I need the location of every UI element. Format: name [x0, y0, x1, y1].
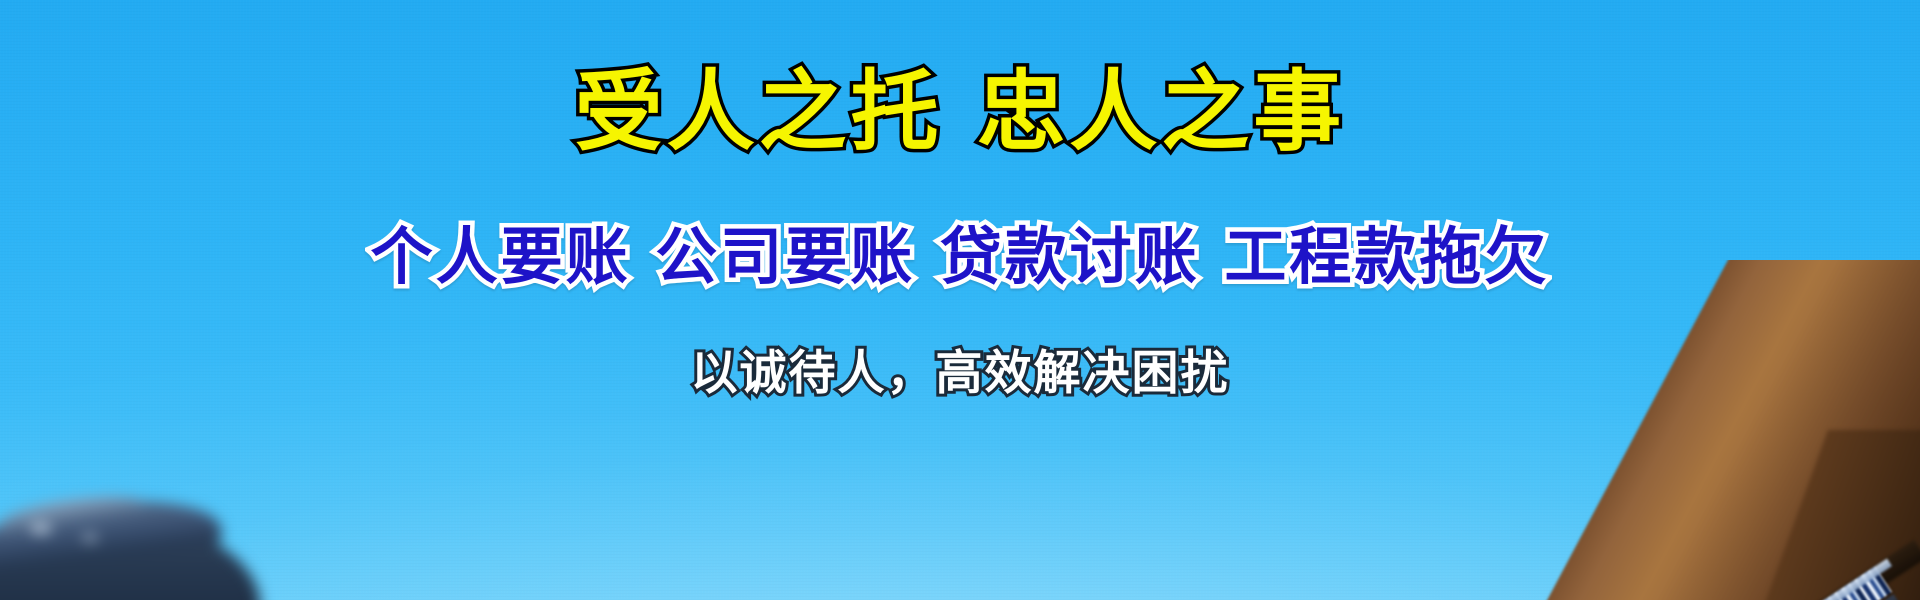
banner-root: 受人之托 忠人之事 个人要账 公司要账 贷款讨账 工程款拖欠 以诚待人，高效解决… — [0, 0, 1920, 600]
sky-background — [0, 0, 1920, 600]
